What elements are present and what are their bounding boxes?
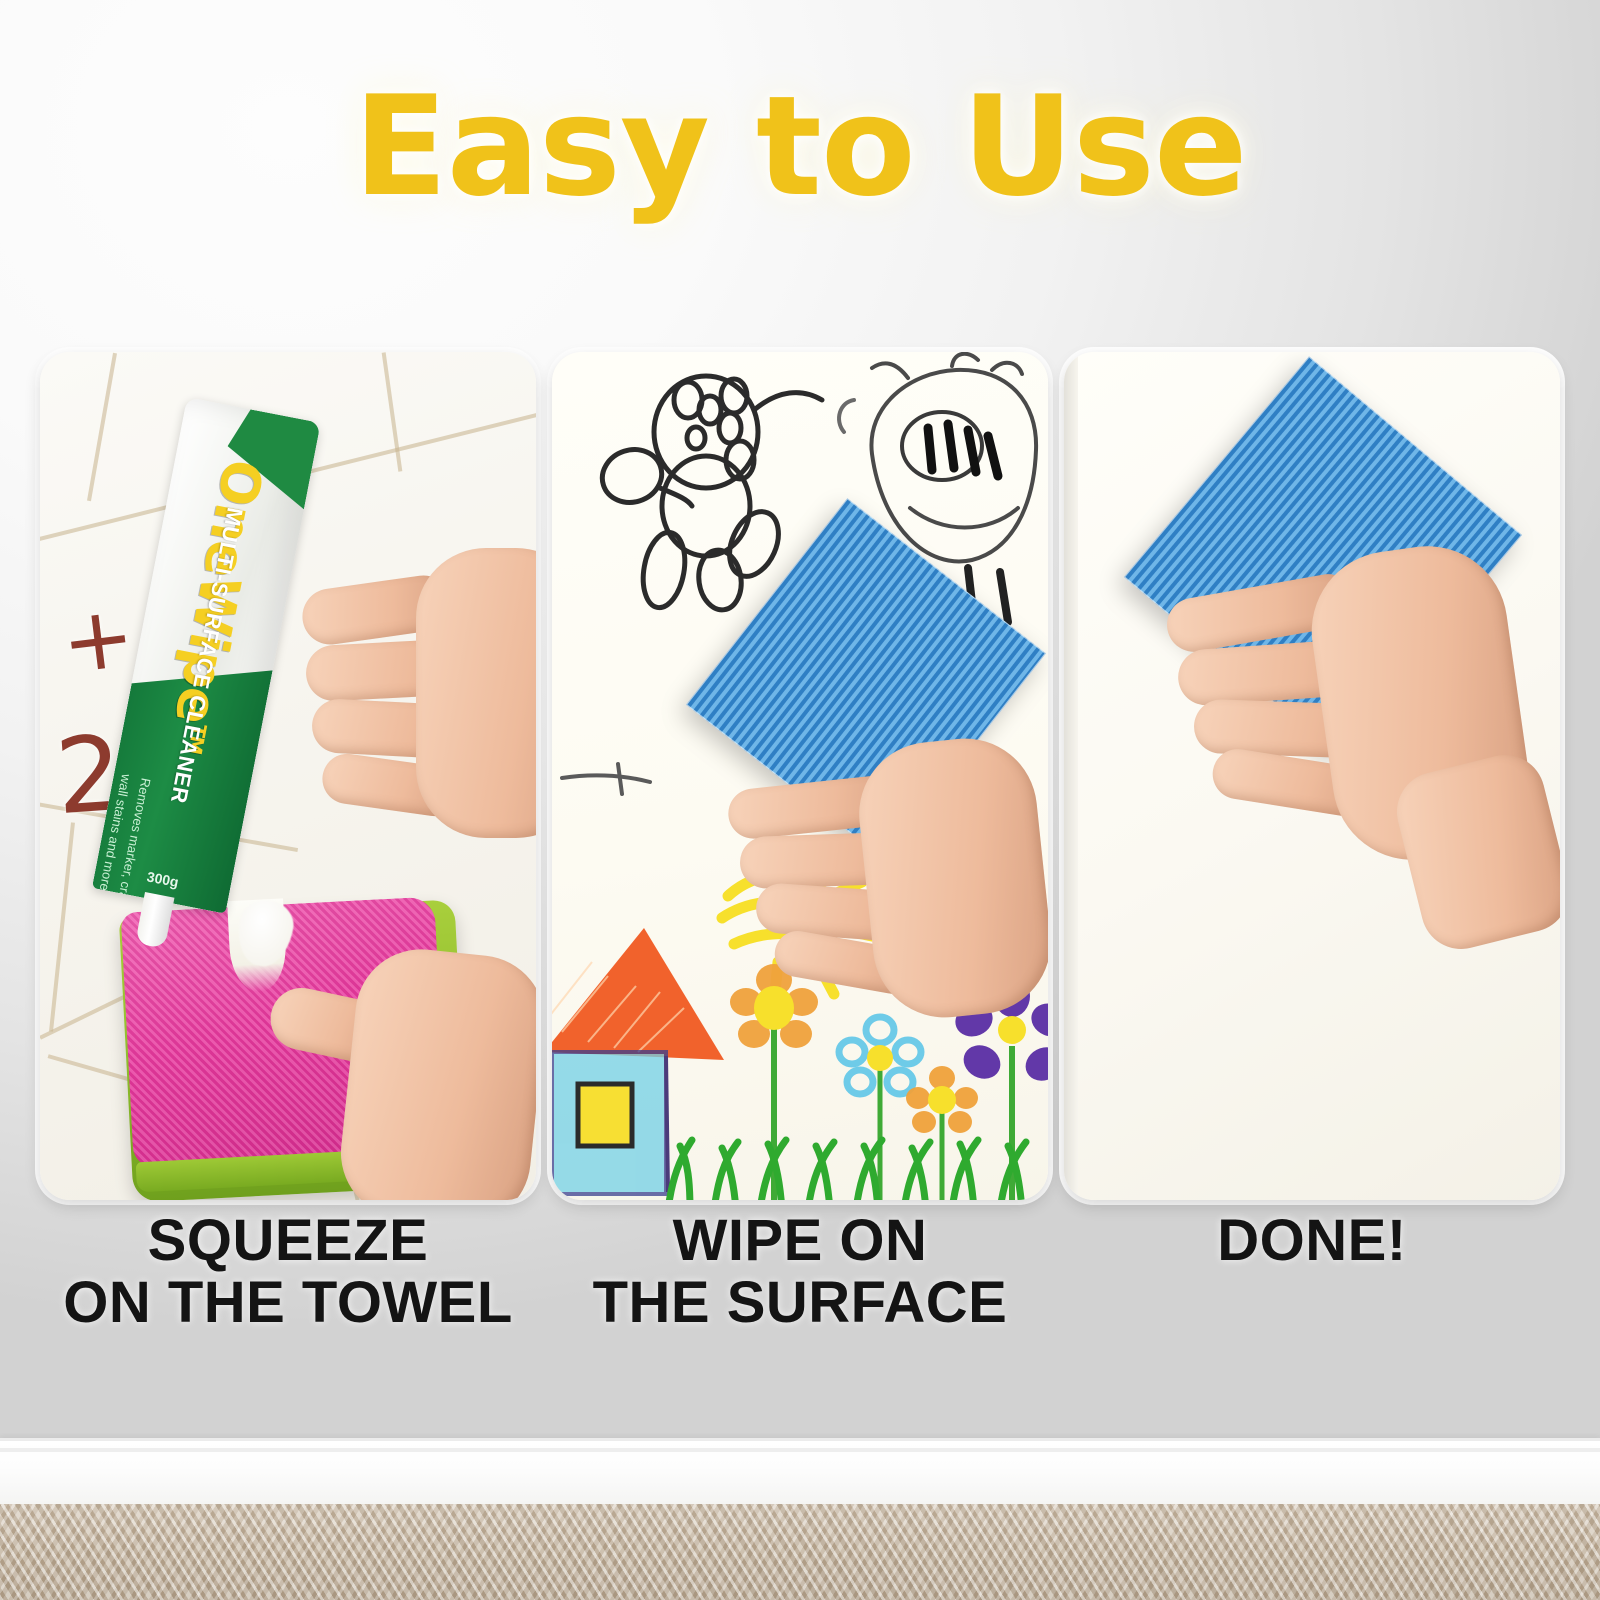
infographic-root: Easy to Use + 2 2 6 (0, 0, 1600, 1600)
caption-step-3: DONE! (1064, 1210, 1560, 1340)
caption-step-2: WIPE ON THE SURFACE (552, 1210, 1048, 1340)
hand-wiping-surface (730, 686, 1030, 1016)
caption-line-1: DONE! (1064, 1210, 1560, 1272)
wall-scribble: + (56, 586, 140, 694)
caption-line-1: WIPE ON (552, 1210, 1048, 1272)
caption-line-2: THE SURFACE (552, 1272, 1048, 1334)
step-panel-3[interactable] (1064, 352, 1560, 1200)
hand-holding-tube (308, 538, 536, 838)
caption-step-1: SQUEEZE ON THE TOWEL (40, 1210, 536, 1340)
wall-edge-shadow (1064, 352, 1078, 1200)
caption-line-2: ON THE TOWEL (40, 1272, 536, 1334)
page-title: Easy to Use (0, 78, 1600, 216)
step-captions: SQUEEZE ON THE TOWEL WIPE ON THE SURFACE… (40, 1210, 1560, 1340)
palm (416, 548, 536, 838)
step-panel-1[interactable]: + 2 2 6 300g OneWipeTM MULTI- (40, 352, 536, 1200)
hand-holding-cloth (1172, 552, 1512, 932)
hand-holding-towel (292, 962, 522, 1200)
baseboard-trim (0, 1438, 1600, 1507)
stray-marker-scribble (558, 734, 688, 814)
steps-gallery: + 2 2 6 300g OneWipeTM MULTI- (40, 352, 1560, 1200)
tube-weight-label: 300g (146, 868, 180, 890)
palm (334, 943, 536, 1200)
palm (852, 731, 1048, 1024)
herringbone-wood-floor (0, 1504, 1600, 1600)
grass-doodle (662, 1092, 1048, 1200)
step-panel-2[interactable] (552, 352, 1048, 1200)
wrist (1388, 747, 1560, 958)
caption-line-1: SQUEEZE (40, 1210, 536, 1272)
